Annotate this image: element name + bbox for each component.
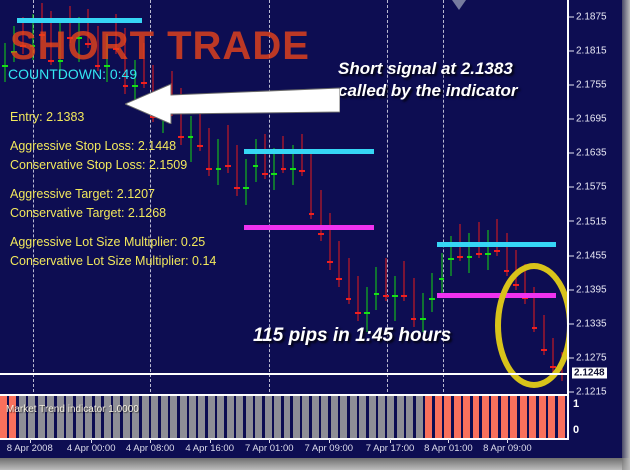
- tick-dash: [569, 153, 574, 154]
- candle-body: [504, 270, 510, 272]
- time-tick: 7 Apr 09:00: [304, 443, 353, 454]
- candle-body: [318, 233, 324, 235]
- trend-bar: [38, 396, 45, 438]
- candle: [262, 134, 268, 179]
- price-tick: 2.1575: [569, 182, 607, 193]
- tick-mark: [448, 439, 449, 443]
- trend-bar: [113, 396, 120, 438]
- candle: [299, 134, 305, 177]
- trend-bar: [302, 396, 309, 438]
- trend-bar: [57, 396, 64, 438]
- trend-bar: [180, 396, 187, 438]
- candle: [494, 219, 500, 256]
- tick-mark: [390, 439, 391, 443]
- candle: [336, 241, 342, 286]
- annotation-signal-line-1: Short signal at 2.1383: [338, 58, 518, 80]
- trend-bar: [293, 396, 300, 438]
- trend-bar: [217, 396, 224, 438]
- candle: [476, 222, 482, 259]
- price-tick-label: 2.1695: [576, 114, 607, 125]
- candle: [234, 145, 240, 196]
- tick-mark: [269, 439, 270, 443]
- tick-mark: [210, 439, 211, 443]
- stop-loss-level-1: [17, 18, 142, 23]
- candle-wick: [487, 230, 488, 270]
- annotation-short-signal: Short signal at 2.1383 called by the ind…: [338, 58, 518, 102]
- candle-body: [346, 298, 352, 300]
- tick-mark: [91, 439, 92, 443]
- trading-chart-screenshot: SHORT TRADE COUNTDOWN: 0:49 Entry: 2.138…: [0, 0, 630, 470]
- price-tick: 2.1455: [569, 250, 607, 261]
- time-tick-label: 8 Apr 01:00: [424, 443, 473, 454]
- candle-wick: [432, 273, 433, 313]
- price-tick: 2.1275: [569, 352, 607, 363]
- price-tick-label: 2.1635: [576, 148, 607, 159]
- trend-bar: [198, 396, 205, 438]
- trend-bar: [274, 396, 281, 438]
- subwindow-scale-low: 0: [573, 424, 579, 436]
- trend-bar: [558, 396, 565, 438]
- candle-body: [309, 213, 315, 215]
- trend-bar: [387, 396, 394, 438]
- candle-wick: [311, 151, 312, 219]
- candle-body: [494, 250, 500, 252]
- price-axis[interactable]: 2.18752.18152.17552.16952.16352.15752.15…: [567, 0, 630, 440]
- candle: [467, 233, 473, 273]
- trend-bar: [539, 396, 546, 438]
- price-tick-label: 2.1815: [576, 46, 607, 57]
- candle-body: [290, 168, 296, 170]
- trend-bar: [142, 396, 149, 438]
- candle-body: [336, 278, 342, 280]
- countdown-label: COUNTDOWN: 0:49: [8, 66, 137, 82]
- spacer: [10, 223, 216, 233]
- candle-body: [2, 65, 8, 67]
- trend-bar: [473, 396, 480, 438]
- candle-body: [262, 173, 268, 175]
- candle-wick: [4, 43, 5, 83]
- candle: [225, 125, 231, 173]
- candle: [253, 139, 259, 182]
- price-tick-label: 2.1575: [576, 182, 607, 193]
- price-tick: 2.1215: [569, 387, 607, 398]
- trend-bar-series: [0, 396, 567, 438]
- time-tick-label: 4 Apr 08:00: [126, 443, 175, 454]
- candle-body: [253, 165, 259, 167]
- price-tick-label: 2.1515: [576, 216, 607, 227]
- candle: [383, 258, 389, 301]
- candle-body: [448, 258, 454, 260]
- time-tick-label: 7 Apr 09:00: [304, 443, 353, 454]
- time-tick: 4 Apr 08:00: [126, 443, 175, 454]
- candle-body: [467, 256, 473, 258]
- time-tick: 8 Apr 01:00: [424, 443, 473, 454]
- ellipse-highlight-icon: [495, 263, 567, 388]
- candle-wick: [395, 276, 396, 321]
- price-tick-label: 2.1455: [576, 250, 607, 261]
- annotation-signal-line-2: called by the indicator: [338, 80, 518, 102]
- price-tick: 2.1875: [569, 12, 607, 23]
- trend-bar: [454, 396, 461, 438]
- tick-dash: [569, 16, 574, 17]
- time-tick-label: 4 Apr 16:00: [185, 443, 234, 454]
- trend-bar: [189, 396, 196, 438]
- candle: [243, 159, 249, 204]
- time-tick: 7 Apr 17:00: [366, 443, 415, 454]
- candle-body: [485, 253, 491, 255]
- subwindow-label: Market Trend indicator 1.0000: [6, 404, 139, 415]
- trend-bar: [312, 396, 319, 438]
- trend-bar: [47, 396, 54, 438]
- candle-body: [374, 293, 380, 295]
- trend-bar: [255, 396, 262, 438]
- time-tick: 4 Apr 16:00: [185, 443, 234, 454]
- stat-aggressive-lot-size: Aggressive Lot Size Multiplier: 0.25: [10, 233, 216, 252]
- trend-bar: [416, 396, 423, 438]
- tick-dash: [569, 289, 574, 290]
- trend-bar: [9, 396, 16, 438]
- trend-bar: [66, 396, 73, 438]
- price-tick: 2.1515: [569, 216, 607, 227]
- candle-body: [429, 298, 435, 300]
- trend-bar: [123, 396, 130, 438]
- stat-conservative-stop-loss: Conservative Stop Loss: 2.1509: [10, 156, 216, 175]
- tick-dash: [569, 119, 574, 120]
- candle: [401, 261, 407, 301]
- trend-bar: [132, 396, 139, 438]
- tick-dash: [569, 255, 574, 256]
- candle-wick: [246, 159, 247, 204]
- trend-bar: [510, 396, 517, 438]
- trend-bar: [482, 396, 489, 438]
- candle-body: [271, 173, 277, 175]
- stop-loss-level-2: [244, 149, 374, 154]
- candle: [327, 213, 333, 270]
- indicator-stats-panel: Entry: 2.1383 Aggressive Stop Loss: 2.14…: [10, 108, 216, 271]
- subwindow-scale-high: 1: [573, 398, 579, 410]
- trend-bar: [95, 396, 102, 438]
- stat-conservative-target: Conservative Target: 2.1268: [10, 204, 216, 223]
- trend-bar: [369, 396, 376, 438]
- stop-loss-level-3: [437, 242, 556, 247]
- trend-bar: [340, 396, 347, 438]
- time-tick-label: 8 Apr 2008: [7, 443, 53, 454]
- window-right-edge: [622, 0, 630, 470]
- candle: [411, 278, 417, 326]
- candle-wick: [218, 139, 219, 184]
- candle-body: [457, 256, 463, 258]
- trend-bar: [406, 396, 413, 438]
- candle-body: [383, 295, 389, 297]
- trend-bar: [491, 396, 498, 438]
- time-tick-label: 7 Apr 01:00: [245, 443, 294, 454]
- current-price-badge: 2.1248: [572, 368, 607, 379]
- candle-body: [225, 165, 231, 167]
- price-tick-label: 2.1875: [576, 12, 607, 23]
- tick-dash: [569, 187, 574, 188]
- tick-mark: [150, 439, 151, 443]
- time-tick: 4 Apr 00:00: [67, 443, 116, 454]
- trend-bar: [0, 396, 7, 438]
- time-tick: 8 Apr 2008: [7, 443, 53, 454]
- time-tick-label: 8 Apr 09:00: [483, 443, 532, 454]
- candle: [392, 276, 398, 321]
- candle-body: [401, 295, 407, 297]
- tick-dash: [569, 85, 574, 86]
- chart-watermark-title: SHORT TRADE: [10, 24, 310, 69]
- price-tick: 2.1635: [569, 148, 607, 159]
- price-tick-label: 2.1215: [576, 387, 607, 398]
- trend-bar: [378, 396, 385, 438]
- candle-body: [355, 312, 361, 314]
- candle: [318, 190, 324, 241]
- time-tick-label: 7 Apr 17:00: [366, 443, 415, 454]
- spacer: [10, 175, 216, 185]
- trend-bar: [331, 396, 338, 438]
- chevron-down-icon: [452, 0, 466, 10]
- candle-body: [392, 295, 398, 297]
- trend-bar: [520, 396, 527, 438]
- trend-bar: [350, 396, 357, 438]
- time-axis[interactable]: 8 Apr 20084 Apr 00:004 Apr 08:004 Apr 16…: [0, 440, 630, 458]
- candle: [374, 267, 380, 310]
- trend-bar: [170, 396, 177, 438]
- candle-body: [299, 170, 305, 172]
- price-tick: 2.1395: [569, 284, 607, 295]
- trend-bar: [397, 396, 404, 438]
- tick-dash: [569, 221, 574, 222]
- candle-wick: [274, 148, 275, 191]
- candle: [485, 230, 491, 270]
- candle-wick: [348, 258, 349, 303]
- candle: [281, 136, 287, 173]
- candle: [309, 151, 315, 219]
- trend-bar: [227, 396, 234, 438]
- price-tick-label: 2.1395: [576, 284, 607, 295]
- price-tick-label: 2.1275: [576, 352, 607, 363]
- trend-bar: [161, 396, 168, 438]
- tick-dash: [569, 391, 574, 392]
- candle-body: [281, 168, 287, 170]
- annotation-result-pips: 115 pips in 1:45 hours: [253, 325, 451, 347]
- current-price-line: [0, 373, 567, 375]
- trend-bar: [265, 396, 272, 438]
- candle-wick: [441, 253, 442, 293]
- candle: [271, 148, 277, 191]
- candle-wick: [469, 233, 470, 273]
- trend-bar: [548, 396, 555, 438]
- stat-aggressive-target: Aggressive Target: 2.1207: [10, 185, 216, 204]
- trend-bar: [104, 396, 111, 438]
- trend-bar: [236, 396, 243, 438]
- candle: [439, 253, 445, 293]
- candle-body: [243, 187, 249, 189]
- trend-bar: [321, 396, 328, 438]
- price-tick-label: 2.1755: [576, 80, 607, 91]
- target-level-1: [244, 225, 374, 230]
- candle-wick: [255, 139, 256, 182]
- tick-dash: [569, 50, 574, 51]
- trend-bar: [444, 396, 451, 438]
- candle-body: [411, 318, 417, 320]
- trend-bar: [246, 396, 253, 438]
- price-tick: 2.1695: [569, 114, 607, 125]
- price-chart-canvas[interactable]: SHORT TRADE COUNTDOWN: 0:49 Entry: 2.138…: [0, 0, 567, 392]
- spacer: [10, 127, 216, 137]
- trend-bar: [529, 396, 536, 438]
- price-tick: 2.1755: [569, 80, 607, 91]
- candle-body: [327, 261, 333, 263]
- candle-body: [420, 318, 426, 320]
- price-tick: 2.1335: [569, 318, 607, 329]
- candle: [2, 43, 8, 83]
- trend-bar: [463, 396, 470, 438]
- candle-wick: [376, 267, 377, 310]
- tick-dash: [569, 323, 574, 324]
- tick-dash: [569, 357, 574, 358]
- candle-body: [216, 168, 222, 170]
- trend-bar: [151, 396, 158, 438]
- trend-bar: [19, 396, 26, 438]
- tick-mark: [30, 439, 31, 443]
- price-tick-label: 2.1335: [576, 318, 607, 329]
- trend-bar: [435, 396, 442, 438]
- candle: [429, 273, 435, 313]
- stat-aggressive-stop-loss: Aggressive Stop Loss: 2.1448: [10, 137, 216, 156]
- window-bottom-edge: [0, 458, 630, 470]
- stat-conservative-lot-size: Conservative Lot Size Multiplier: 0.14: [10, 252, 216, 271]
- tick-mark: [507, 439, 508, 443]
- candle: [346, 258, 352, 303]
- time-tick: 7 Apr 01:00: [245, 443, 294, 454]
- candle-body: [364, 312, 370, 314]
- trend-bar: [284, 396, 291, 438]
- trend-bar: [501, 396, 508, 438]
- market-trend-indicator-subwindow[interactable]: Market Trend indicator 1.0000: [0, 394, 567, 440]
- candle: [216, 139, 222, 184]
- trend-bar: [85, 396, 92, 438]
- candle-body: [439, 278, 445, 280]
- time-tick-label: 4 Apr 00:00: [67, 443, 116, 454]
- left-arrow-icon: [125, 82, 340, 124]
- trend-bar: [76, 396, 83, 438]
- time-tick: 8 Apr 09:00: [483, 443, 532, 454]
- trend-bar: [28, 396, 35, 438]
- candle-body: [234, 187, 240, 189]
- trend-bar: [208, 396, 215, 438]
- price-tick: 2.1815: [569, 46, 607, 57]
- candle-wick: [264, 134, 265, 179]
- candle: [355, 276, 361, 321]
- trend-bar: [425, 396, 432, 438]
- trend-bar: [359, 396, 366, 438]
- candle-body: [476, 253, 482, 255]
- tick-mark: [329, 439, 330, 443]
- candle: [504, 233, 510, 276]
